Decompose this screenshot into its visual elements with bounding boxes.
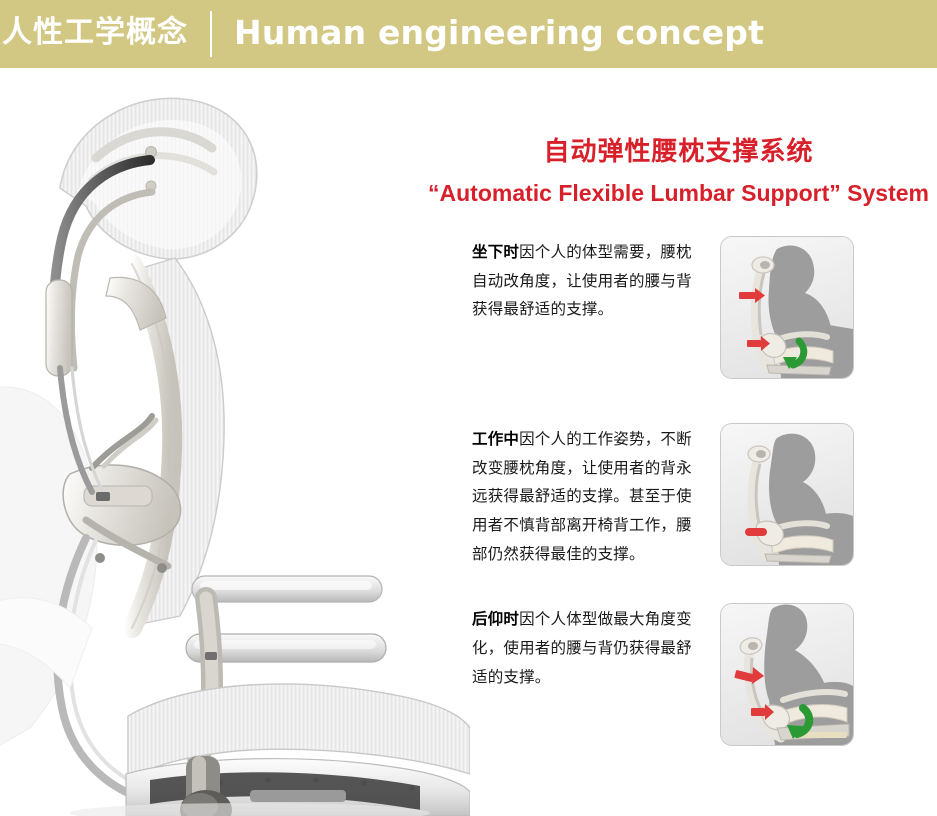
feature-item: 后仰时因个人体型做最大角度变化，使用者的腰与背仍获得最舒适的支撑。: [420, 603, 937, 746]
header-separator-rule: [210, 11, 212, 57]
feature-label: 工作中: [472, 430, 519, 448]
feature-body: 因个人的工作姿势，不断改变腰枕角度，让使用者的背永远获得最舒适的支撑。甚至于使用…: [472, 430, 692, 563]
feature-thumbnail-reclined[interactable]: [720, 603, 854, 746]
feature-description: 后仰时因个人体型做最大角度变化，使用者的腰与背仍获得最舒适的支撑。: [420, 603, 702, 691]
feature-item: 坐下时因个人的体型需要，腰枕自动改角度，让使用者的腰与背获得最舒适的支撑。: [420, 236, 937, 379]
seated-posture-icon: [721, 237, 853, 378]
feature-item: 工作中因个人的工作姿势，不断改变腰枕角度，让使用者的背永远获得最舒适的支撑。甚至…: [420, 423, 937, 568]
chair-product-photo: [0, 68, 470, 816]
page-header-band: 人性工学概念 Human engineering concept: [0, 0, 937, 68]
feature-thumbnail-seated[interactable]: [720, 236, 854, 379]
header-title-english: Human engineering concept: [234, 16, 764, 53]
feature-description: 坐下时因个人的体型需要，腰枕自动改角度，让使用者的腰与背获得最舒适的支撑。: [420, 236, 702, 324]
feature-label: 后仰时: [472, 610, 519, 628]
feature-thumbnail-working[interactable]: [720, 423, 854, 566]
reclined-posture-icon: [721, 604, 853, 745]
content-panel: 自动弹性腰枕支撑系统 “Automatic Flexible Lumbar Su…: [420, 120, 937, 810]
feature-label: 坐下时: [472, 243, 519, 261]
working-posture-icon: [721, 424, 853, 565]
feature-list: 坐下时因个人的体型需要，腰枕自动改角度，让使用者的腰与背获得最舒适的支撑。: [420, 236, 937, 746]
section-title-english: “Automatic Flexible Lumbar Support” Syst…: [420, 180, 937, 206]
header-title-chinese: 人性工学概念: [2, 18, 188, 51]
feature-description: 工作中因个人的工作姿势，不断改变腰枕角度，让使用者的背永远获得最舒适的支撑。甚至…: [420, 423, 702, 568]
chair-illustration: [0, 68, 470, 816]
section-title-chinese: 自动弹性腰枕支撑系统: [420, 138, 937, 167]
